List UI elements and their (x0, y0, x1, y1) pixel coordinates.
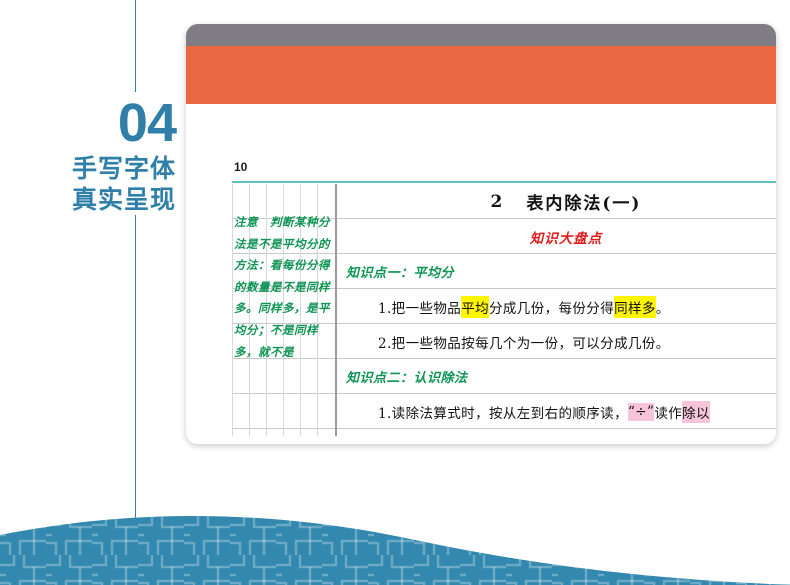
document-title: 2 表内除法(一) (340, 184, 776, 219)
text-run: 读作 (654, 402, 682, 422)
text-run: 。 (656, 297, 670, 317)
accent-vertical-rule-top (135, 0, 136, 92)
section-heading-2: 知识点二：认识除法 (340, 359, 776, 394)
document-preview-card[interactable]: 10 (186, 24, 776, 444)
text-run-highlight: 除以 (682, 401, 710, 423)
content-item-k1-2: 2.把一些物品按每几个为一份，可以分成几份。 (340, 324, 776, 359)
content-column: 2 表内除法(一) 知识大盘点 知识点一：平均分 1.把一些物品平均分成几份，每… (340, 184, 776, 436)
card-titlebar (186, 24, 776, 46)
content-item-k2-1: 1.读除法算式时，按从左到右的顺序读，“÷” 读作除以 (340, 394, 776, 429)
page-number: 10 (234, 160, 247, 174)
column-divider (335, 184, 337, 436)
text-run-highlight: 平均 (461, 296, 489, 318)
accent-vertical-rule-bottom (135, 215, 136, 530)
section-label-block: 04 手写字体 真实呈现 (0, 96, 190, 216)
text-run: 2.把一些物品按每几个为一份，可以分成几份。 (378, 332, 670, 352)
section-heading-1: 知识点一：平均分 (340, 254, 776, 289)
margin-note-text: 注意 判断某种分法是不是平均分的方法：看每份分得的数量是不是同样多。同样多，是平… (234, 212, 335, 363)
text-run: 1.把一些物品 (378, 297, 461, 317)
text-run-highlight: 同样多 (614, 296, 656, 318)
page-top-rule (232, 181, 776, 183)
text-run: 分成几份，每份分得 (489, 297, 614, 317)
content-item-k1-1: 1.把一些物品平均分成几份，每份分得同样多。 (340, 289, 776, 324)
note-grid-line (232, 184, 233, 436)
section-subtitle-line2: 真实呈现 (0, 185, 176, 216)
document-title-text: 表内除法(一) (526, 189, 641, 214)
margin-note-column: 注意 判断某种分法是不是平均分的方法：看每份分得的数量是不是同样多。同样多，是平… (232, 184, 335, 436)
text-run-highlight: “÷” (628, 403, 654, 421)
notebook-page: 10 (232, 184, 776, 444)
card-body: 10 (186, 104, 776, 444)
document-title-number: 2 (491, 192, 505, 212)
card-color-band (186, 46, 776, 104)
section-number: 04 (0, 96, 176, 150)
document-subtitle: 知识大盘点 (340, 219, 776, 254)
page-sheet: 注意 判断某种分法是不是平均分的方法：看每份分得的数量是不是同样多。同样多，是平… (232, 184, 776, 436)
text-run: 1.读除法算式时，按从左到右的顺序读， (378, 402, 628, 422)
slide-canvas: 04 手写字体 真实呈现 10 (0, 0, 790, 585)
section-subtitle-line1: 手写字体 (0, 154, 176, 185)
bottom-wave-decoration (0, 475, 790, 585)
